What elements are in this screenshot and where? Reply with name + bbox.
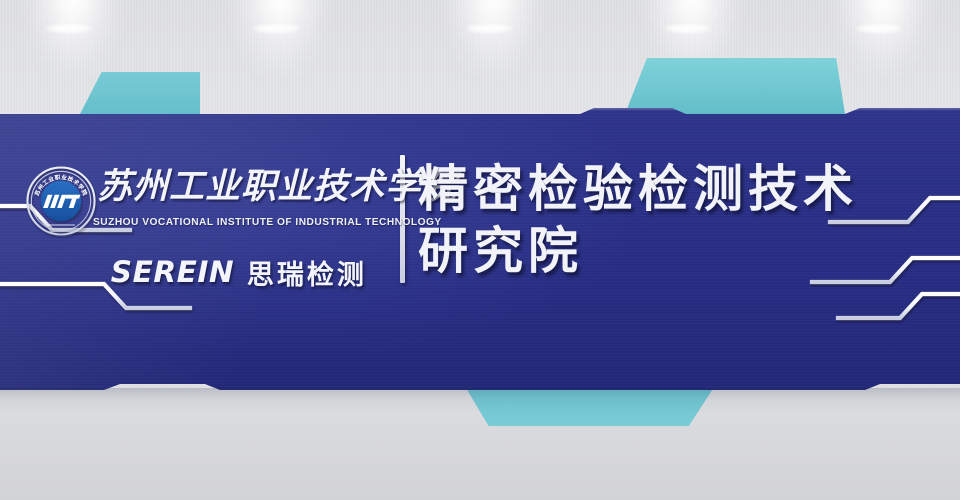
panel-drop-shadow: [0, 388, 960, 414]
brand-latin-wordmark: SEREIN: [111, 255, 234, 289]
spotlight-core: [466, 24, 512, 33]
suzhou-institute-seal-logo: 苏州工业职业技术学院: [22, 162, 100, 240]
school-name-chinese: 苏州工业职业技术学院: [97, 161, 397, 213]
spotlight-core: [46, 24, 92, 33]
spotlight-core: [665, 24, 711, 33]
page-title-line-2: 研究院: [418, 220, 946, 282]
seal-bottom-arc-text: [47, 224, 75, 225]
teal-trapezoid-top-right: [625, 58, 845, 114]
spotlight-core: [253, 24, 299, 33]
page-title: 精密检验检测技术 研究院: [418, 158, 946, 282]
spotlight-core: [856, 24, 902, 33]
school-name-english: SUZHOU VOCATIONAL INSTITUTE OF INDUSTRIA…: [93, 216, 399, 230]
brand-chinese-name: 思瑞检测: [247, 253, 367, 292]
signage-scene: 苏州工业职业技术学院 苏州工业职业技术学院 SUZHOU VOCATIONAL …: [0, 0, 960, 500]
brand-lockup: SEREIN 思瑞检测: [112, 252, 398, 292]
page-title-line-1: 精密检验检测技术: [418, 158, 946, 220]
